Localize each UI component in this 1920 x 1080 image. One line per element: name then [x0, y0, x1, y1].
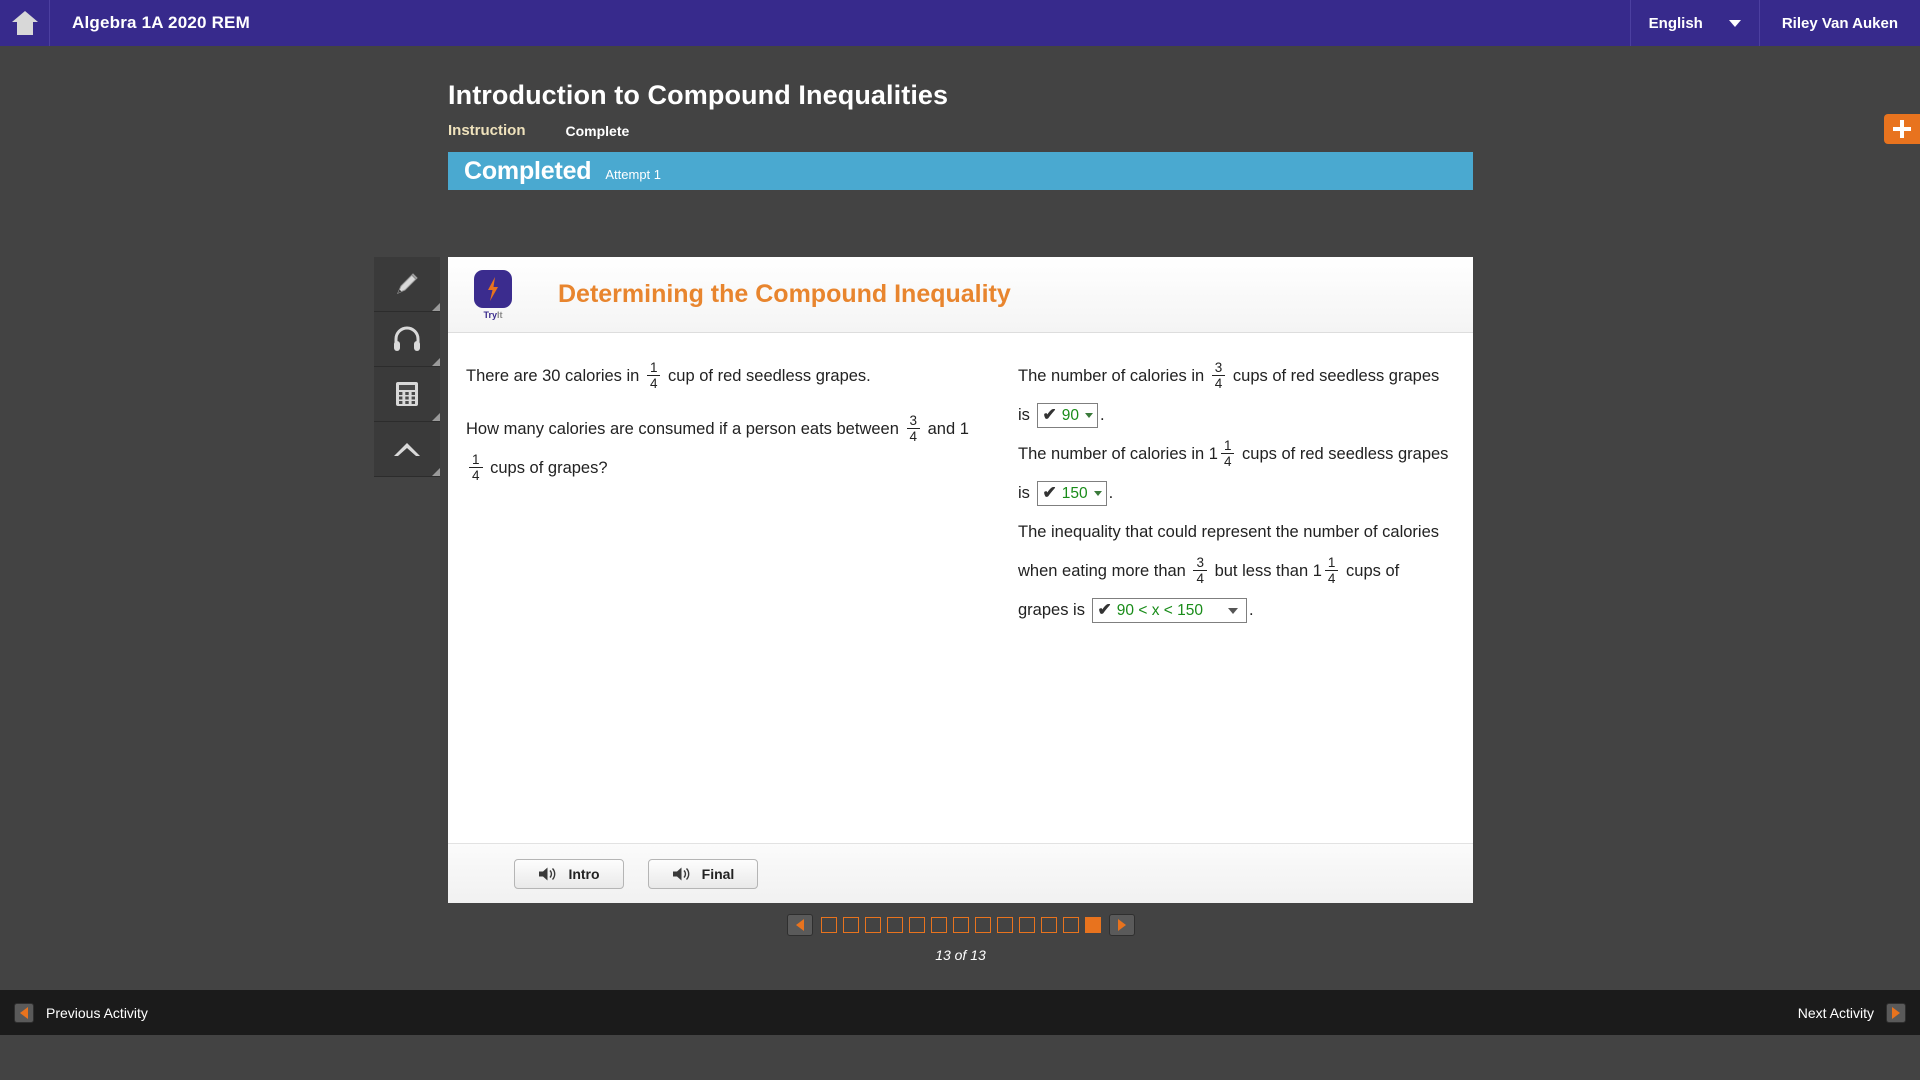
lesson-header: Introduction to Compound Inequalities In…	[0, 46, 1920, 139]
answer-dropdown-1-value: 90	[1062, 396, 1079, 435]
chevron-down-icon	[1228, 608, 1238, 614]
try-it-badge: TryIt	[470, 270, 516, 320]
final-audio-label: Final	[702, 866, 735, 882]
problem-line-2-text-a: How many calories are consumed if a pers…	[466, 420, 899, 438]
problem-line-1-text-a: There are 30 calories in	[466, 367, 639, 385]
home-button[interactable]	[0, 0, 50, 46]
answer-1-text-a: The number of calories in	[1018, 367, 1204, 385]
headphones-icon	[392, 326, 422, 352]
pagination-next-button[interactable]	[1109, 914, 1135, 936]
status-banner: Completed Attempt 1	[448, 152, 1473, 190]
next-arrow-box	[1886, 1003, 1906, 1023]
speaker-icon	[672, 866, 692, 882]
fraction-numerator: 1	[1325, 555, 1339, 571]
answer-3-period: .	[1249, 601, 1254, 619]
intro-audio-button[interactable]: Intro	[514, 859, 624, 889]
pagination-prev-button[interactable]	[787, 914, 813, 936]
activity-card: TryIt Determining the Compound Inequalit…	[448, 257, 1473, 903]
fraction-denominator: 4	[1221, 454, 1235, 469]
pagination-count: 13 of 13	[935, 947, 986, 963]
answer-sentence-3: The inequality that could represent the …	[1018, 513, 1451, 630]
fraction-numerator: 3	[1193, 555, 1207, 571]
chevron-down-icon	[1094, 491, 1102, 496]
answer-dropdown-2-value: 150	[1062, 474, 1088, 513]
top-navigation-bar: Algebra 1A 2020 REM English Riley Van Au…	[0, 0, 1920, 46]
language-label: English	[1649, 15, 1703, 32]
chevron-down-icon	[1085, 413, 1093, 418]
language-selector[interactable]: English	[1630, 0, 1760, 46]
answer-3-text-mid: but less than 1	[1215, 562, 1322, 580]
final-audio-button[interactable]: Final	[648, 859, 758, 889]
pagination-dot[interactable]	[1063, 917, 1079, 933]
answer-1-period: .	[1100, 406, 1105, 424]
calculator-icon	[394, 380, 420, 408]
home-icon	[12, 11, 38, 35]
problem-statement-column: There are 30 calories in 1 4 cup of red …	[466, 357, 996, 843]
check-icon: ✔	[1098, 601, 1112, 618]
fraction-three-fourths: 3 4	[1212, 360, 1226, 391]
answer-dropdown-1[interactable]: ✔ 90	[1037, 403, 1099, 428]
plus-icon	[1893, 120, 1911, 138]
previous-activity-button[interactable]: Previous Activity	[14, 1003, 148, 1023]
bottom-navigation-bar: Previous Activity Next Activity	[0, 990, 1920, 1035]
problem-line-2-text-b: cups of grapes?	[490, 459, 607, 477]
pagination-dot[interactable]	[1041, 917, 1057, 933]
attempt-label: Attempt 1	[605, 167, 661, 182]
answer-sentence-1: The number of calories in 3 4 cups of re…	[1018, 357, 1451, 435]
fraction-numerator: 1	[1221, 438, 1235, 454]
pagination-row	[787, 914, 1135, 936]
next-activity-button[interactable]: Next Activity	[1798, 1003, 1906, 1023]
pagination-dot[interactable]	[1085, 917, 1101, 933]
prev-arrow-box	[14, 1003, 34, 1023]
status-badge: Completed	[464, 157, 591, 186]
pencil-icon	[392, 269, 422, 299]
pagination-dot[interactable]	[953, 917, 969, 933]
pagination-dot[interactable]	[931, 917, 947, 933]
tab-complete[interactable]: Complete	[566, 123, 630, 139]
intro-audio-label: Intro	[568, 866, 599, 882]
pagination-dot[interactable]	[909, 917, 925, 933]
triangle-left-icon	[20, 1007, 28, 1019]
pagination-dot[interactable]	[865, 917, 881, 933]
pagination-dot[interactable]	[1019, 917, 1035, 933]
fraction-denominator: 4	[907, 429, 921, 444]
lesson-tabs: Instruction Complete	[448, 122, 1920, 139]
card-body: There are 30 calories in 1 4 cup of red …	[448, 333, 1473, 843]
user-menu[interactable]: Riley Van Auken	[1760, 0, 1920, 46]
problem-line-2: How many calories are consumed if a pers…	[466, 410, 980, 488]
fraction-denominator: 4	[469, 468, 483, 483]
fraction-denominator: 4	[1325, 571, 1339, 586]
lightning-bolt-icon	[474, 270, 512, 308]
try-it-label: TryIt	[483, 310, 502, 320]
fraction-three-fourths: 3 4	[907, 413, 921, 444]
collapse-up-icon	[391, 438, 423, 460]
answer-2-text-a: The number of calories in 1	[1018, 445, 1218, 463]
answer-2-period: .	[1109, 484, 1114, 502]
problem-line-1: There are 30 calories in 1 4 cup of red …	[466, 357, 980, 396]
fraction-denominator: 4	[647, 376, 661, 391]
answer-dropdown-3[interactable]: ✔ 90 < x < 150	[1092, 598, 1247, 623]
user-name-label: Riley Van Auken	[1782, 15, 1898, 32]
fraction-numerator: 1	[647, 360, 661, 376]
fraction-one-fourth: 1 4	[1325, 555, 1339, 586]
check-icon: ✔	[1043, 484, 1057, 501]
card-title: Determining the Compound Inequality	[558, 280, 1011, 309]
fraction-numerator: 3	[907, 413, 921, 429]
triangle-left-icon	[796, 919, 804, 931]
page-title: Introduction to Compound Inequalities	[448, 80, 1920, 111]
next-activity-label: Next Activity	[1798, 1005, 1874, 1021]
calculator-tool-button[interactable]	[374, 367, 440, 422]
tab-instruction[interactable]: Instruction	[448, 122, 526, 139]
top-bar-right-group: English Riley Van Auken	[1630, 0, 1920, 46]
pagination-dots	[818, 917, 1104, 933]
chevron-down-icon	[1729, 20, 1741, 27]
problem-line-1-text-b: cup of red seedless grapes.	[668, 367, 871, 385]
fraction-one-fourth: 1 4	[647, 360, 661, 391]
pencil-tool-button[interactable]	[374, 257, 440, 312]
check-icon: ✔	[1043, 406, 1057, 423]
answers-column: The number of calories in 3 4 cups of re…	[996, 357, 1451, 843]
answer-dropdown-2[interactable]: ✔ 150	[1037, 481, 1107, 506]
try-it-light: It	[497, 310, 503, 320]
fraction-one-fourth: 1 4	[1221, 438, 1235, 469]
add-panel-button[interactable]	[1884, 114, 1920, 144]
course-title: Algebra 1A 2020 REM	[50, 0, 250, 46]
tool-rail	[374, 257, 440, 477]
pagination-dot[interactable]	[997, 917, 1013, 933]
card-header: TryIt Determining the Compound Inequalit…	[448, 257, 1473, 333]
pagination-dot[interactable]	[821, 917, 837, 933]
collapse-tool-button[interactable]	[374, 422, 440, 477]
fraction-denominator: 4	[1212, 376, 1226, 391]
fraction-three-fourths: 3 4	[1193, 555, 1207, 586]
page-content: Introduction to Compound Inequalities In…	[0, 46, 1920, 1035]
fraction-one-fourth: 1 4	[469, 452, 483, 483]
try-it-bold: Try	[483, 310, 497, 320]
audio-tool-button[interactable]	[374, 312, 440, 367]
card-footer: Intro Final	[448, 843, 1473, 903]
problem-line-2-text-mid: and 1	[928, 420, 969, 438]
answer-dropdown-3-value: 90 < x < 150	[1117, 591, 1203, 630]
pagination-dot[interactable]	[975, 917, 991, 933]
fraction-denominator: 4	[1193, 571, 1207, 586]
fraction-numerator: 1	[469, 452, 483, 468]
fraction-numerator: 3	[1212, 360, 1226, 376]
pagination-dot[interactable]	[887, 917, 903, 933]
triangle-right-icon	[1892, 1007, 1900, 1019]
pagination-dot[interactable]	[843, 917, 859, 933]
previous-activity-label: Previous Activity	[46, 1005, 148, 1021]
speaker-icon	[538, 866, 558, 882]
pagination: 13 of 13	[448, 914, 1473, 963]
triangle-right-icon	[1118, 919, 1126, 931]
answer-sentence-2: The number of calories in 1 1 4 cups of …	[1018, 435, 1451, 513]
